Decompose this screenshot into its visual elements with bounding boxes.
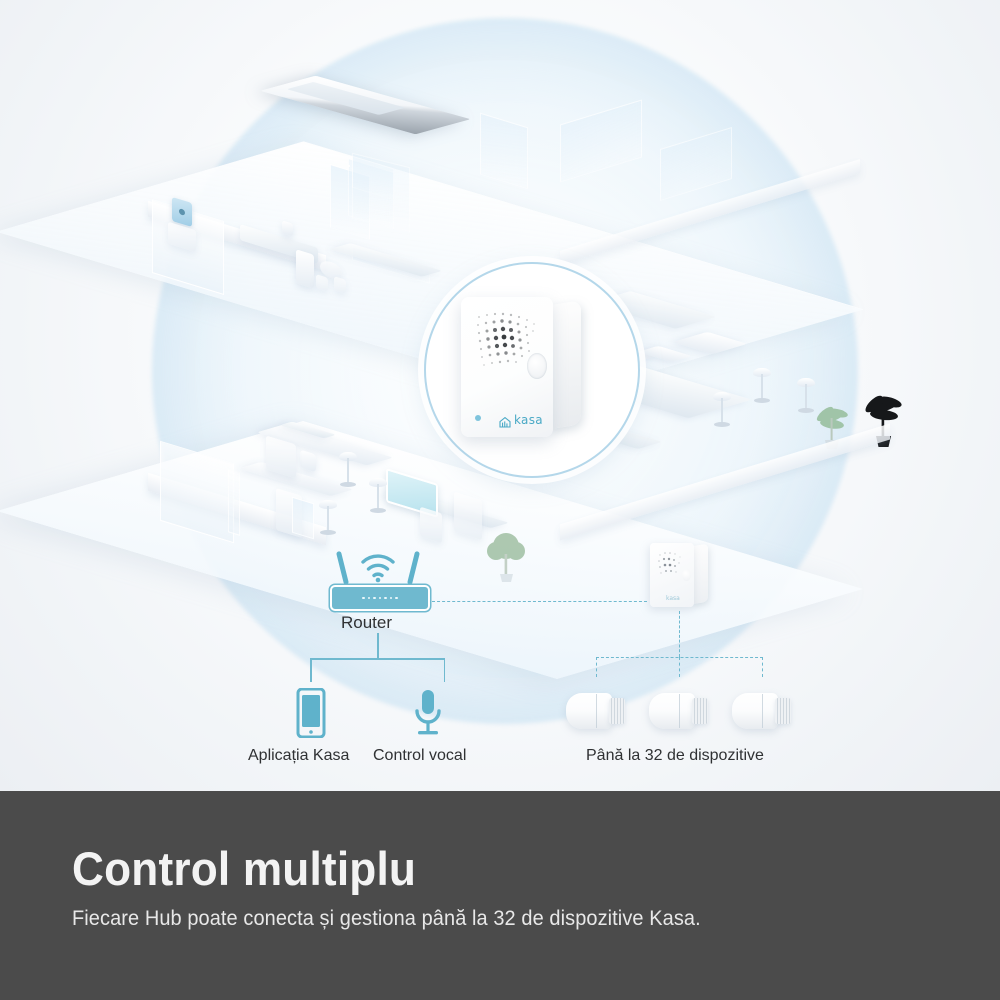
- hub-front-face: kasa: [461, 297, 553, 437]
- branch-to-valve-2: [679, 657, 680, 677]
- router-led: [395, 597, 398, 600]
- valve-body: [732, 693, 778, 729]
- lamp-pole: [805, 384, 807, 410]
- lower-floor-slab: [0, 421, 863, 679]
- desk-chair: [420, 507, 442, 544]
- valve-ring: [775, 698, 791, 724]
- floor-lamp-1: [752, 368, 772, 404]
- wall-hub-grille: [656, 550, 684, 578]
- plant-indoor-tree: [484, 528, 528, 582]
- router-led: [373, 597, 376, 600]
- router-stem: [377, 633, 379, 659]
- lamp-base: [754, 398, 770, 403]
- wall-smart-hub: kasa: [650, 543, 708, 609]
- valve-seam: [596, 694, 597, 728]
- door-glass: [292, 497, 314, 540]
- router-led: [368, 597, 371, 600]
- floor-lamp-4: [318, 500, 338, 536]
- spacer-a: [348, 165, 350, 167]
- floor-lamp-5: [368, 478, 388, 514]
- router-led: [384, 597, 387, 600]
- microphone-icon: [410, 688, 446, 745]
- lamp-pole: [347, 458, 349, 484]
- valve-ring: [692, 698, 708, 724]
- upper-cabinet: [296, 249, 314, 289]
- treadmill-frame: [352, 153, 410, 233]
- lamp-base: [370, 508, 386, 513]
- glass-partition-upper-c: [560, 99, 642, 182]
- lamp-base: [340, 482, 356, 487]
- lamp-pole: [377, 484, 379, 510]
- wall-lower-divider: [228, 468, 240, 536]
- app-label: Aplicația Kasa: [248, 747, 349, 765]
- router-branch-bar: [310, 658, 445, 660]
- branch-to-voice: [444, 658, 446, 682]
- router-antenna-left: [336, 551, 349, 585]
- smartphone-icon: [296, 688, 326, 738]
- router-label: Router: [341, 613, 392, 633]
- wifi-icon: [358, 551, 398, 588]
- wallhub-stem: [679, 611, 680, 657]
- camera-lens: [179, 208, 185, 216]
- lamp-base: [714, 422, 730, 427]
- product-feature-image: kasa: [0, 0, 1000, 1000]
- floor-lamp-3: [712, 392, 732, 428]
- radiator-valve-icon: [732, 690, 794, 732]
- hub-status-led: [475, 415, 481, 421]
- router-body: [330, 585, 430, 611]
- hero-illustration: kasa: [0, 0, 1000, 791]
- smart-hub-device: kasa: [461, 297, 581, 439]
- valve-ring: [609, 698, 625, 724]
- lamp-pole: [761, 374, 763, 400]
- valve-seam: [679, 694, 680, 728]
- kasa-house-icon: [499, 415, 511, 426]
- wall-hub-face: kasa: [650, 543, 694, 607]
- branch-to-valve-3: [762, 657, 763, 677]
- lamp-base: [320, 530, 336, 535]
- router-led: [379, 597, 382, 600]
- branch-to-valve-1: [596, 657, 597, 677]
- link-router-to-wallhub: [432, 601, 647, 602]
- wall-hub-button[interactable]: [682, 569, 691, 581]
- bookshelf: [454, 492, 482, 541]
- router-icon: [330, 545, 426, 611]
- branch-to-app: [310, 658, 312, 682]
- kasa-brand-logo: kasa: [499, 413, 543, 427]
- banner-subtitle: Fiecare Hub poate conecta și gestiona pâ…: [72, 907, 701, 931]
- lamp-pole: [721, 398, 723, 424]
- radiator-valve-icon: [649, 690, 711, 732]
- router-led: [390, 597, 393, 600]
- lamp-pole: [327, 506, 329, 532]
- voice-label: Control vocal: [373, 747, 466, 765]
- air-conditioner: [260, 76, 470, 135]
- ac-vent: [287, 82, 406, 115]
- router-antenna-right: [407, 551, 420, 585]
- glass-partition-upper-b: [480, 113, 528, 190]
- floor-lamp-6: [338, 452, 358, 488]
- banner-title: Control multiplu: [72, 841, 416, 896]
- glass-partition-upper-d: [660, 127, 732, 201]
- devices-count-label: Până la 32 de dispozitive: [586, 747, 764, 765]
- valve-body: [566, 693, 612, 729]
- kasa-wordmark: kasa: [514, 413, 543, 427]
- radiator-valve-icon: [566, 690, 628, 732]
- valve-seam: [762, 694, 763, 728]
- router-led: [362, 597, 365, 600]
- valve-body: [649, 693, 695, 729]
- wall-hub-brand: kasa: [666, 595, 680, 602]
- caption-banner: Control multiplu Fiecare Hub poate conec…: [0, 791, 1000, 1000]
- hub-button[interactable]: [527, 353, 547, 379]
